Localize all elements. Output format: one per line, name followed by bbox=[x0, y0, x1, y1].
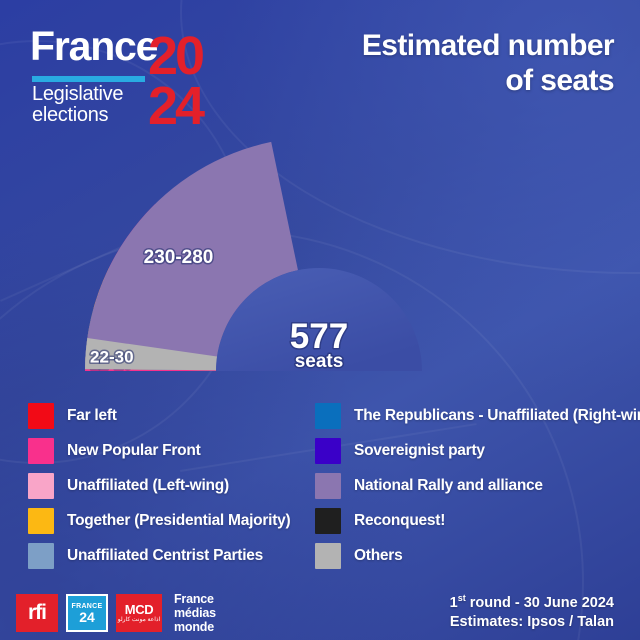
legend-color-swatch bbox=[315, 438, 341, 464]
credit-round-ordinal: st bbox=[458, 593, 466, 603]
fmm-line2: médias bbox=[174, 606, 216, 620]
legend-item[interactable]: New Popular Front bbox=[28, 433, 328, 468]
legend-item[interactable]: Sovereignist party bbox=[315, 433, 640, 468]
fmm-line3: monde bbox=[174, 620, 214, 634]
legend-item-label: Far left bbox=[67, 407, 117, 425]
footer-logos: rfi FRANCE 24 MCD اذاعة مونت كارلو Franc… bbox=[16, 592, 216, 634]
france24-logo[interactable]: FRANCE 24 bbox=[66, 594, 108, 632]
legend-item[interactable]: Together (Presidential Majority) bbox=[28, 503, 328, 538]
legend-item[interactable]: Others bbox=[315, 538, 640, 573]
legend-item[interactable]: Unaffiliated Centrist Parties bbox=[28, 538, 328, 573]
legend-item-label: National Rally and alliance bbox=[354, 477, 543, 495]
legend-color-swatch bbox=[315, 543, 341, 569]
credit-estimates: Estimates: Ipsos / Talan bbox=[450, 613, 614, 632]
legend-color-swatch bbox=[28, 473, 54, 499]
legend-color-swatch bbox=[315, 403, 341, 429]
legend-color-swatch bbox=[28, 403, 54, 429]
rfi-logo[interactable]: rfi bbox=[16, 594, 58, 632]
legend-column-left: Far leftNew Popular FrontUnaffiliated (L… bbox=[28, 398, 328, 573]
legend-column-right: The Republicans - Unaffiliated (Right-wi… bbox=[315, 398, 640, 573]
mcd-logo-text1: MCD bbox=[125, 603, 153, 617]
legend-item-label: Others bbox=[354, 547, 402, 565]
france24-logo-text2: 24 bbox=[79, 610, 95, 624]
footer: rfi FRANCE 24 MCD اذاعة مونت كارلو Franc… bbox=[0, 582, 640, 640]
legend-item-label: New Popular Front bbox=[67, 442, 201, 460]
legend-item[interactable]: The Republicans - Unaffiliated (Right-wi… bbox=[315, 398, 640, 433]
legend-item-label: Reconquest! bbox=[354, 512, 445, 530]
legend-item-label: Unaffiliated Centrist Parties bbox=[67, 547, 263, 565]
legend-item[interactable]: Reconquest! bbox=[315, 503, 640, 538]
legend-color-swatch bbox=[28, 508, 54, 534]
legend-color-swatch bbox=[315, 508, 341, 534]
credit-round-number: 1 bbox=[450, 595, 458, 611]
legend-color-swatch bbox=[315, 473, 341, 499]
mcd-logo-text2: اذاعة مونت كارلو bbox=[118, 617, 161, 623]
hemicycle-chart: 125-16511-1970-10041-61230-28022-30 577 … bbox=[0, 0, 640, 400]
legend-color-swatch bbox=[28, 543, 54, 569]
france-medias-monde-logo[interactable]: France médias monde bbox=[174, 592, 216, 634]
fmm-line1: France bbox=[174, 592, 214, 606]
legend-item-label: The Republicans - Unaffiliated (Right-wi… bbox=[354, 407, 640, 425]
segment-value-label: 22-30 bbox=[90, 348, 133, 367]
legend-color-swatch bbox=[28, 438, 54, 464]
legend-item-label: Together (Presidential Majority) bbox=[67, 512, 290, 530]
legend-item-label: Sovereignist party bbox=[354, 442, 485, 460]
legend-item-label: Unaffiliated (Left-wing) bbox=[67, 477, 229, 495]
credit-round-date: 1st round - 30 June 2024 bbox=[450, 593, 614, 613]
mcd-logo[interactable]: MCD اذاعة مونت كارلو bbox=[116, 594, 162, 632]
legend-item[interactable]: Unaffiliated (Left-wing) bbox=[28, 468, 328, 503]
legend-item[interactable]: Far left bbox=[28, 398, 328, 433]
credit-block: 1st round - 30 June 2024 Estimates: Ipso… bbox=[450, 593, 614, 632]
credit-round-rest: round - 30 June 2024 bbox=[466, 595, 614, 611]
legend-item[interactable]: National Rally and alliance bbox=[315, 468, 640, 503]
legend: Far leftNew Popular FrontUnaffiliated (L… bbox=[0, 398, 640, 583]
segment-value-label: 230-280 bbox=[144, 247, 214, 268]
hemicycle-svg: 125-16511-1970-10041-61230-28022-30 577 … bbox=[0, 0, 640, 400]
total-seats-unit: seats bbox=[295, 351, 344, 372]
infographic-root: France Legislative elections 20 24 Estim… bbox=[0, 0, 640, 640]
